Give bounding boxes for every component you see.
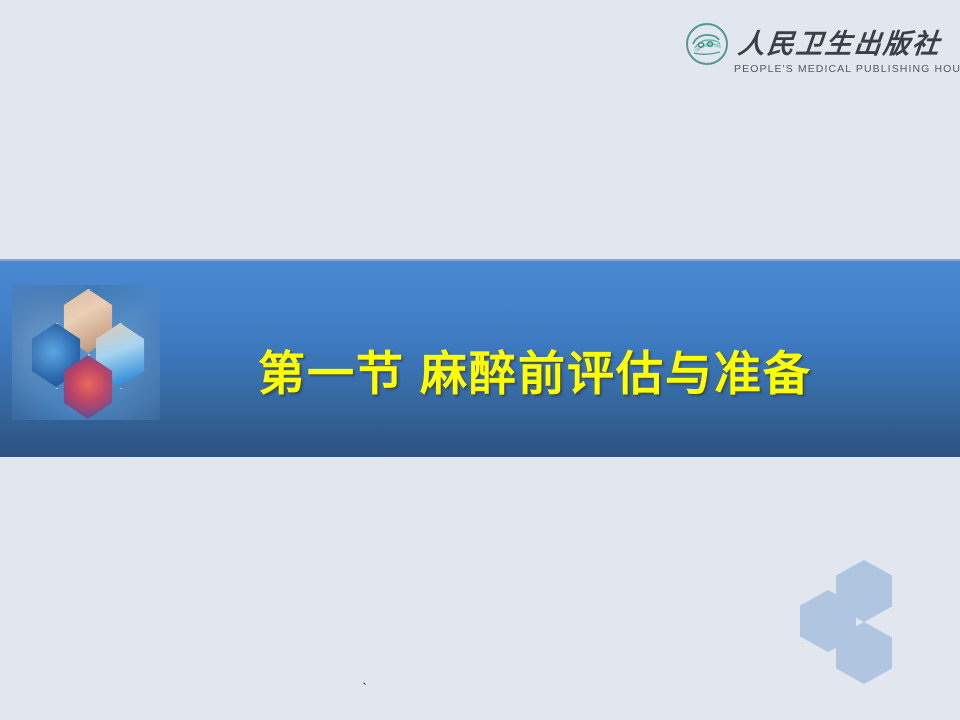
band-top-highlight [0,259,960,261]
page-title: 第一节 麻醉前评估与准备 [258,343,858,405]
medical-hexagon-collage-image [12,285,160,420]
logo-chinese-name: 人民卫生出版社 [737,31,943,58]
logo-row: 人民卫生出版社 [684,26,941,62]
logo-english-name: PEOPLE'S MEDICAL PUBLISHING HOUSE [734,63,960,75]
pmph-circular-emblem-icon [684,21,730,67]
tick-mark: ` [362,682,367,697]
decorative-hexagon-cluster [800,560,930,690]
publisher-logo: 人民卫生出版社 PEOPLE'S MEDICAL PUBLISHING HOUS… [684,26,916,82]
slide-canvas: 人民卫生出版社 PEOPLE'S MEDICAL PUBLISHING HOUS… [0,0,960,720]
